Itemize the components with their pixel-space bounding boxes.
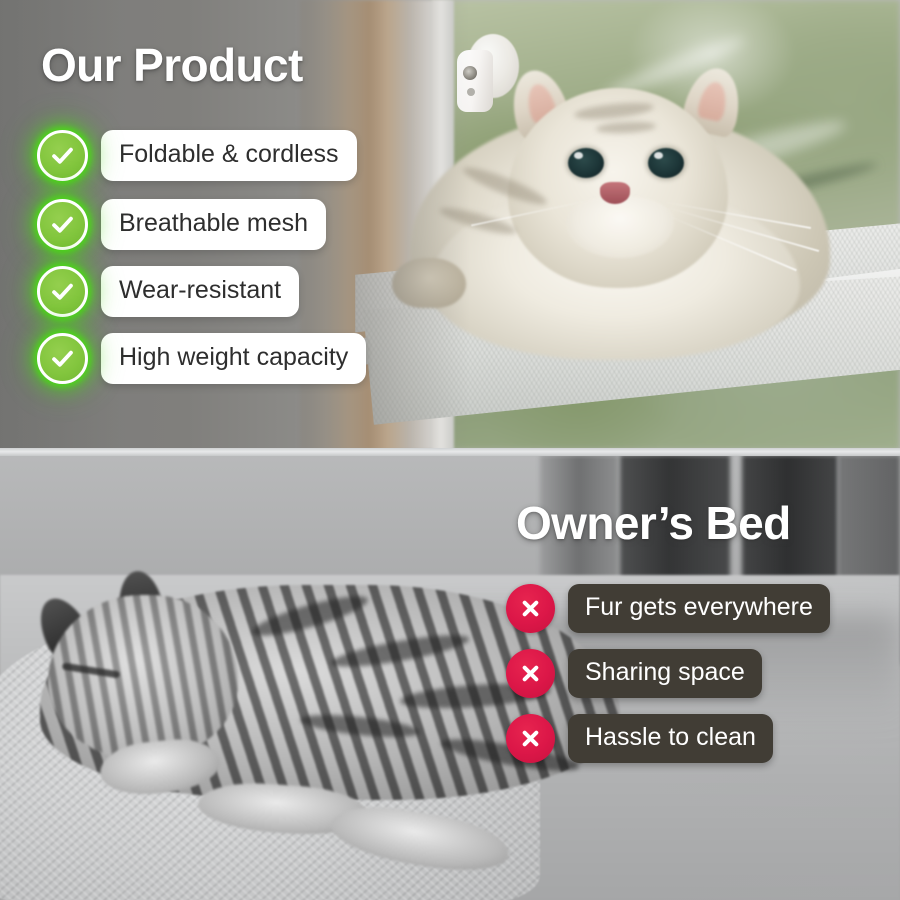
feature-label: Wear-resistant (101, 266, 299, 317)
drawback-label: Sharing space (568, 649, 762, 698)
comparison-poster: Our Product Foldable & cordless Breathab… (0, 0, 900, 900)
x-circle-icon (506, 584, 555, 633)
cat-eye-glint-left (574, 152, 583, 159)
feature-row: Wear-resistant (37, 266, 299, 317)
feature-label: High weight capacity (101, 333, 366, 384)
check-circle-icon (37, 333, 88, 384)
owners-bed-title: Owner’s Bed (516, 500, 791, 546)
drawback-row: Hassle to clean (506, 714, 773, 763)
check-circle-icon (37, 199, 88, 250)
panel-divider (0, 448, 900, 456)
feature-row: High weight capacity (37, 333, 366, 384)
feature-label: Foldable & cordless (101, 130, 357, 181)
our-product-title: Our Product (41, 42, 303, 88)
feature-row: Foldable & cordless (37, 130, 357, 181)
drawback-row: Sharing space (506, 649, 762, 698)
check-circle-icon (37, 130, 88, 181)
cat-eye-right (648, 148, 684, 178)
x-circle-icon (506, 649, 555, 698)
drawback-row: Fur gets everywhere (506, 584, 830, 633)
cat-eye-left (568, 148, 604, 178)
x-circle-icon (506, 714, 555, 763)
feature-label: Breathable mesh (101, 199, 326, 250)
check-circle-icon (37, 266, 88, 317)
drawback-label: Hassle to clean (568, 714, 773, 763)
our-product-panel: Our Product Foldable & cordless Breathab… (0, 0, 900, 450)
sleeping-cat-head (48, 595, 238, 760)
cat-eye-glint-right (654, 152, 663, 159)
feature-row: Breathable mesh (37, 199, 326, 250)
drawback-label: Fur gets everywhere (568, 584, 830, 633)
